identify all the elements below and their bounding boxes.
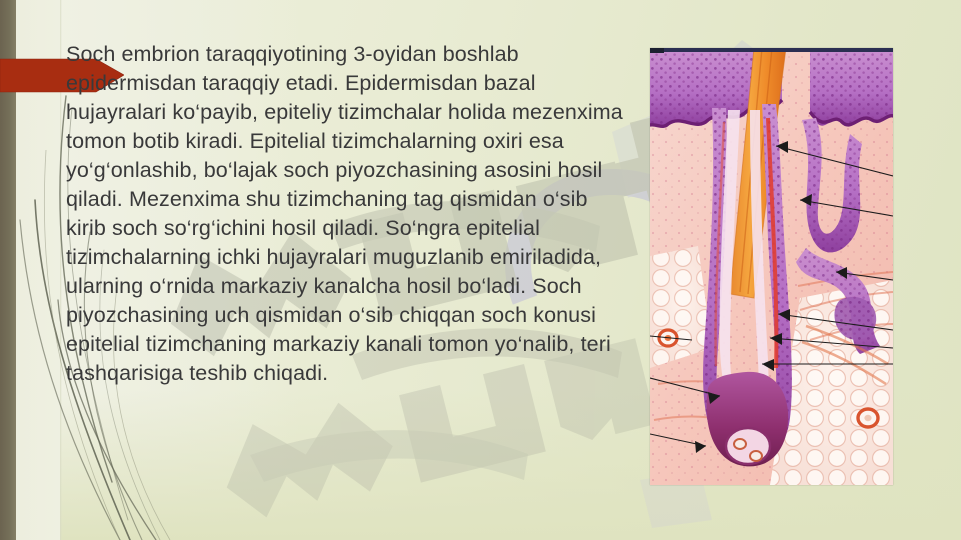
presentation-slide: Soch embrion taraqqiyotining 3-oyidan bo…: [0, 0, 961, 540]
left-cream-panel: [16, 0, 60, 540]
histology-micrograph-figure: [650, 48, 893, 485]
left-panel-edge: [60, 0, 62, 540]
left-accent-bar: [0, 0, 16, 540]
hair-follicle-illustration: [650, 48, 893, 485]
slide-body-text: Soch embrion taraqqiyotining 3-oyidan bo…: [66, 40, 626, 388]
